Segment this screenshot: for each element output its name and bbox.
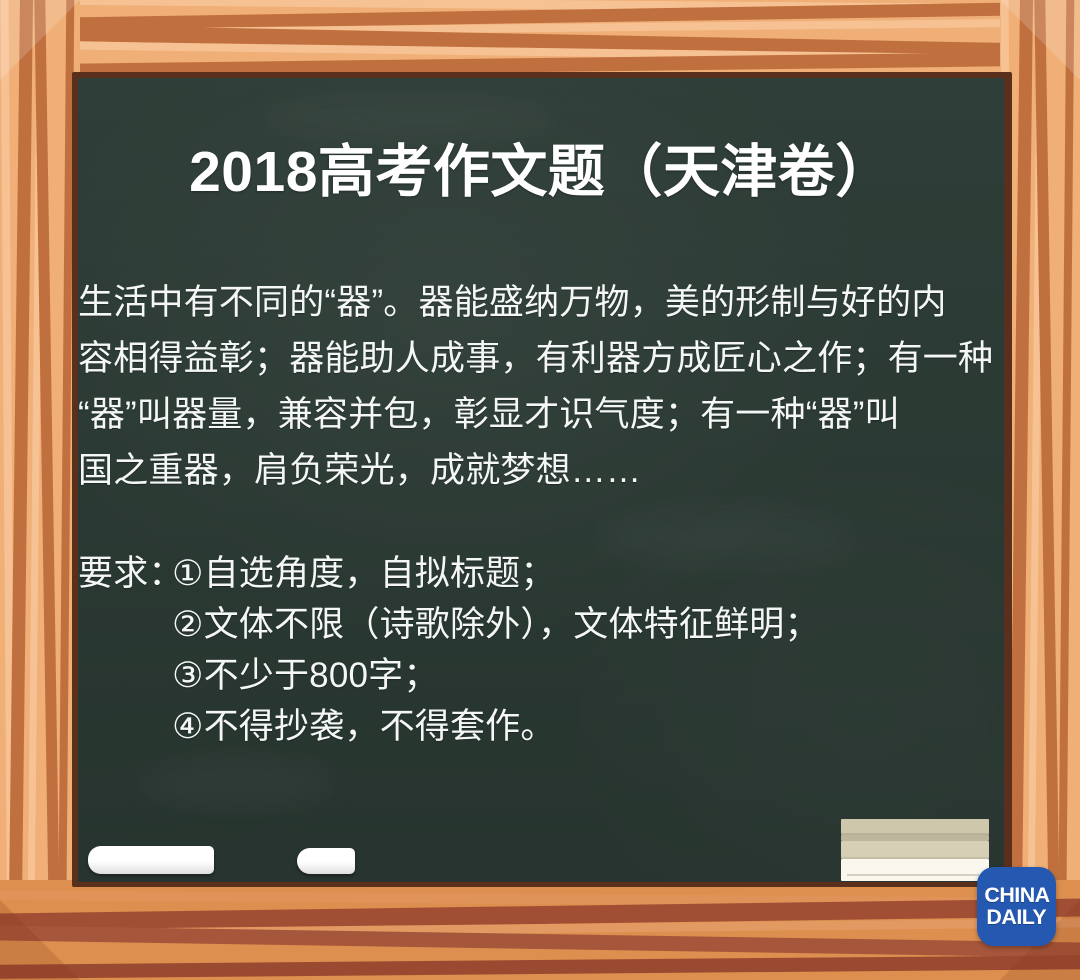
logo-text-line-1: CHINA (984, 885, 1049, 906)
requirements-label-spacer (78, 599, 172, 650)
essay-prompt-paragraph: 生活中有不同的“器”。器能盛纳万物，美的形制与好的内 容相得益彰；器能助人成事，… (78, 275, 958, 499)
requirement-item: ①自选角度，自拟标题； (172, 548, 556, 599)
wood-grain-stripe (0, 955, 1080, 979)
wood-grain-stripe (1057, 0, 1074, 980)
prompt-line: 生活中有不同的“器”。器能盛纳万物，美的形制与好的内 (78, 275, 958, 331)
chalk-stick-icon (88, 846, 214, 874)
requirements-block: 要求： ①自选角度，自拟标题； ②文体不限（诗歌除外），文体特征鲜明； ③不少于… (78, 548, 820, 752)
frame-miter-bottom-left (0, 900, 80, 980)
chalk-stub-icon (297, 848, 355, 874)
frame-ledge-bottom (0, 880, 1080, 980)
requirement-row: ②文体不限（诗歌除外），文体特征鲜明； (78, 599, 820, 650)
prompt-line: 国之重器，肩负荣光，成就梦想…… (78, 443, 958, 499)
china-daily-logo: CHINA DAILY (977, 867, 1056, 946)
book-layer (841, 819, 989, 835)
prompt-line: “器”叫器量，兼容并包，彰显才识气度；有一种“器”叫 (78, 387, 958, 443)
requirements-label-spacer (78, 650, 172, 701)
requirement-row: 要求： ①自选角度，自拟标题； (78, 548, 820, 599)
requirements-label: 要求： (78, 548, 172, 599)
blackboard-surface: 2018高考作文题（天津卷） 生活中有不同的“器”。器能盛纳万物，美的形制与好的… (78, 78, 1004, 882)
requirement-item: ③不少于800字； (172, 650, 439, 701)
book-stack-icon (841, 819, 989, 881)
logo-text-line-2: DAILY (987, 907, 1047, 928)
requirement-item: ④不得抄袭，不得套作。 (172, 701, 556, 752)
chalk-dust-smudge (138, 758, 338, 808)
chalkboard-poster: 2018高考作文题（天津卷） 生活中有不同的“器”。器能盛纳万物，美的形制与好的… (0, 0, 1080, 980)
frame-plank-left (0, 0, 80, 980)
frame-miter-top-left (0, 0, 80, 80)
requirement-row: ④不得抄袭，不得套作。 (78, 701, 820, 752)
book-layer (841, 841, 989, 859)
requirement-row: ③不少于800字； (78, 650, 820, 701)
requirements-label-spacer (78, 701, 172, 752)
frame-plank-top (0, 0, 1080, 82)
frame-miter-top-right (1000, 0, 1080, 80)
book-layer (841, 859, 989, 881)
prompt-line: 容相得益彰；器能助人成事，有利器方成匠心之作；有一种 (78, 331, 958, 387)
requirement-item: ②文体不限（诗歌除外），文体特征鲜明； (172, 599, 820, 650)
poster-title: 2018高考作文题（天津卷） (78, 126, 1004, 208)
frame-plank-right (1000, 0, 1080, 980)
